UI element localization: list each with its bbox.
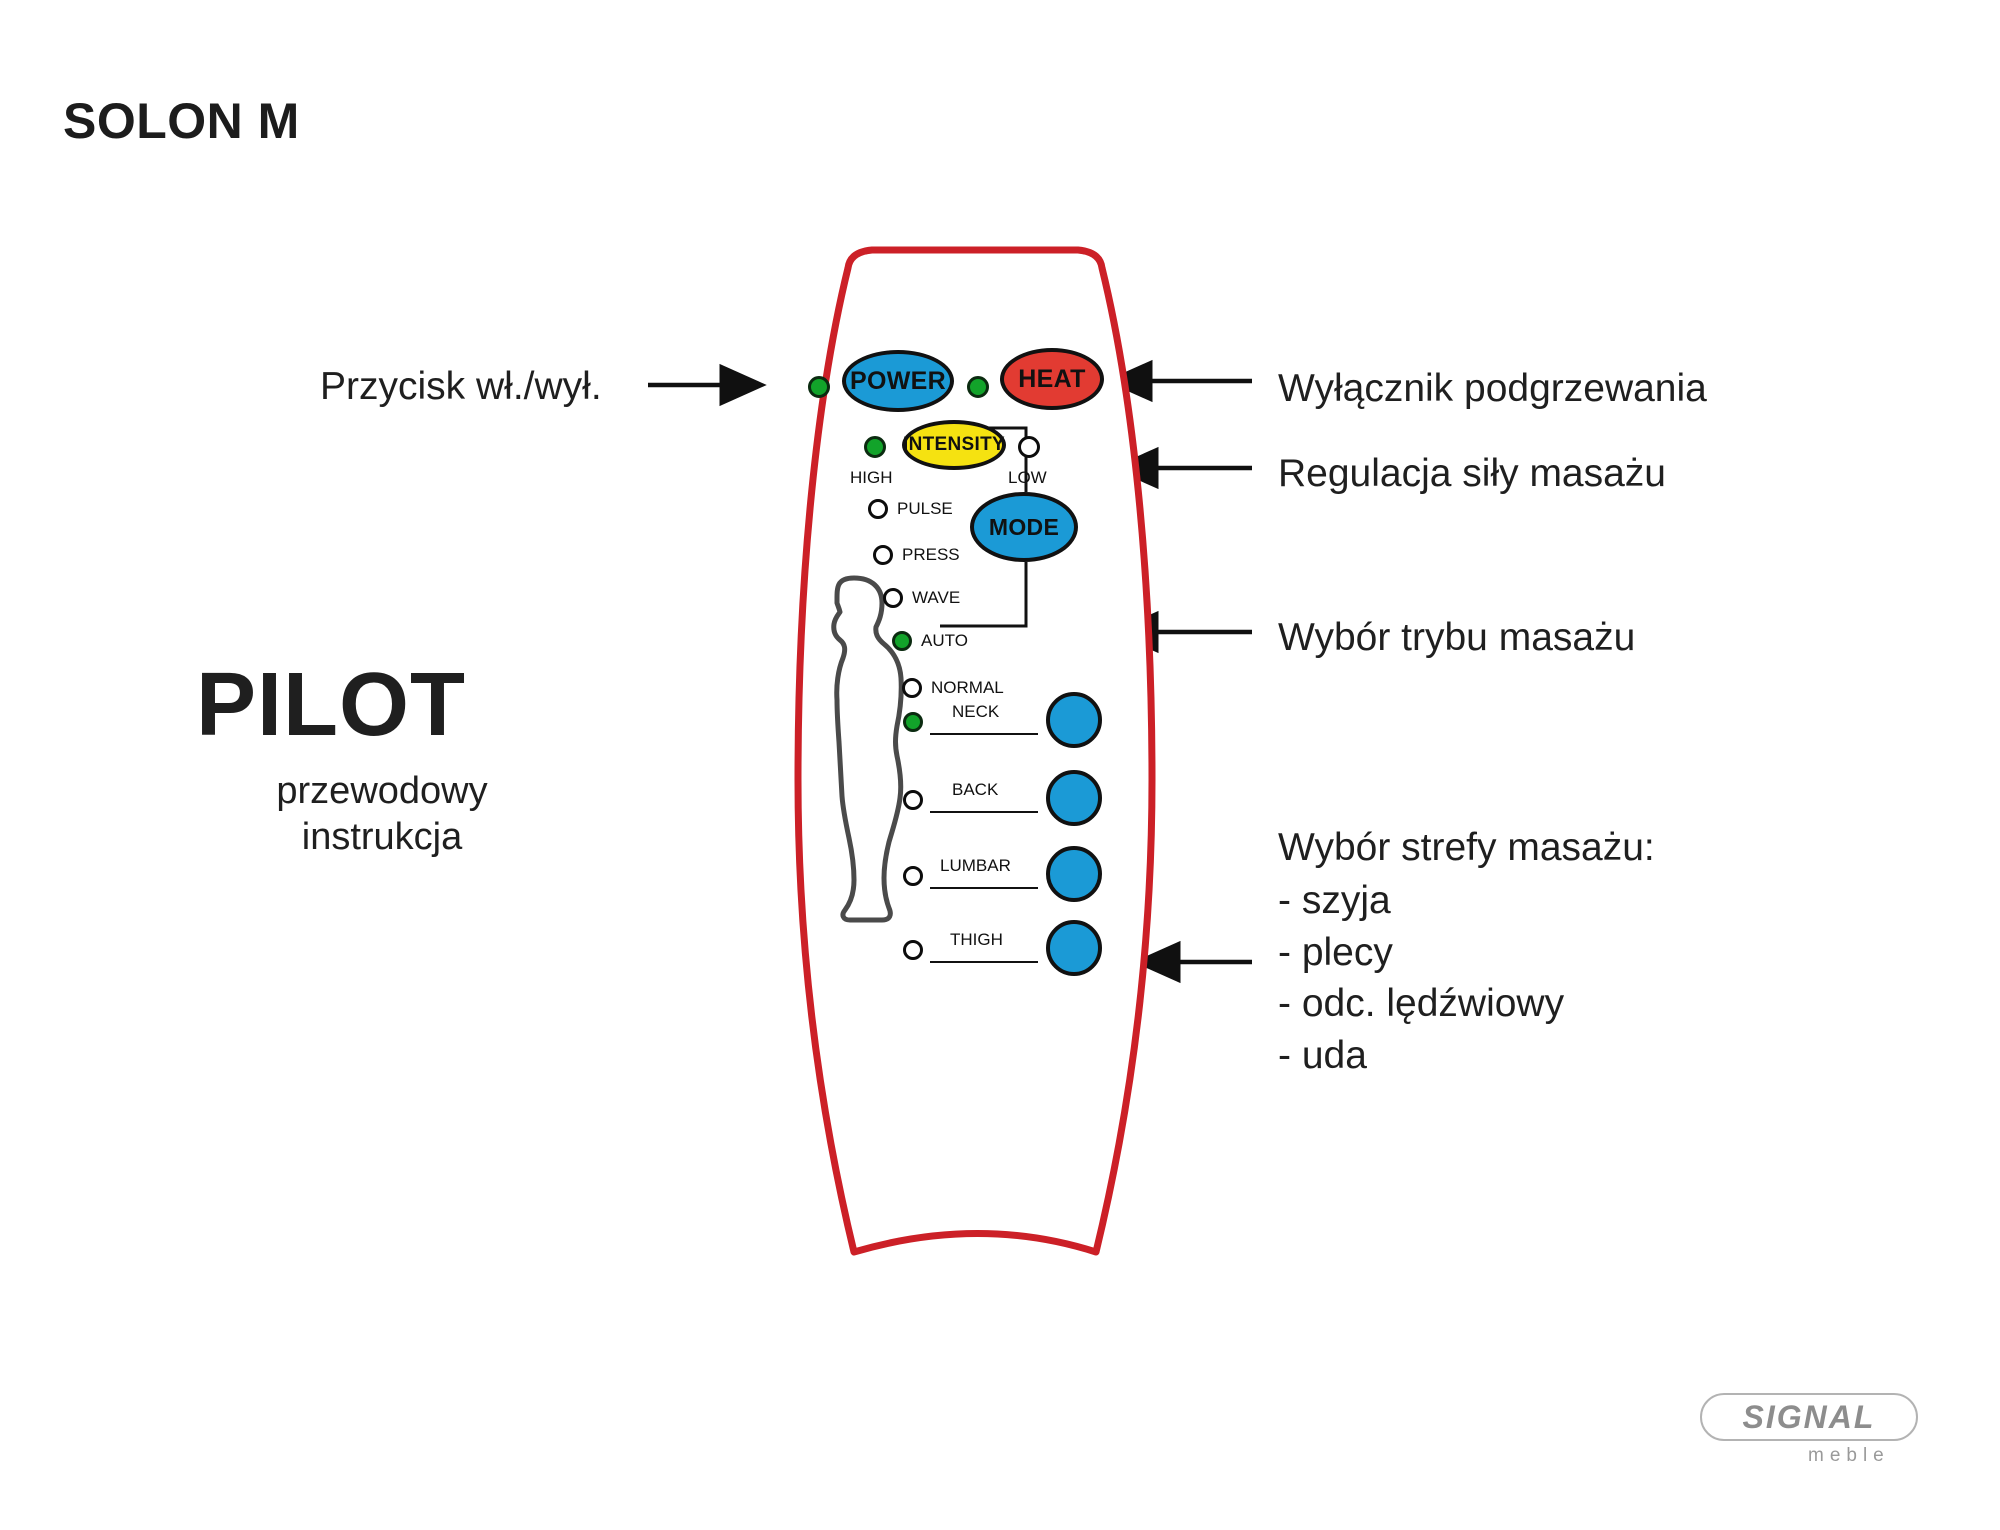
zone-button-back[interactable] bbox=[1046, 770, 1102, 826]
signal-meble-logo: SIGNAL meble bbox=[1700, 1393, 1940, 1485]
zone-underline-lumbar bbox=[930, 887, 1038, 889]
zone-button-neck[interactable] bbox=[1046, 692, 1102, 748]
annotation-zone-item: - plecy bbox=[1278, 927, 1655, 978]
zone-led-neck bbox=[903, 712, 923, 732]
intensity-high-led bbox=[864, 436, 886, 458]
annotation-zone-item: - szyja bbox=[1278, 875, 1655, 926]
intensity-low-led bbox=[1018, 436, 1040, 458]
annotation-zone-item: - odc. lędźwiowy bbox=[1278, 978, 1655, 1029]
power-button[interactable]: POWER bbox=[842, 350, 954, 412]
intensity-high-label: HIGH bbox=[850, 468, 893, 488]
zone-underline-neck bbox=[930, 733, 1038, 735]
zone-label-neck: NECK bbox=[952, 702, 999, 722]
annotation-heat: Wyłącznik podgrzewania bbox=[1278, 363, 1707, 414]
pilot-subtitle: przewodowy instrukcja bbox=[222, 768, 542, 861]
mode-led-wave bbox=[883, 588, 903, 608]
logo-wordmark: SIGNAL bbox=[1700, 1393, 1918, 1441]
annotation-zone-item: - uda bbox=[1278, 1030, 1655, 1081]
zone-led-lumbar bbox=[903, 866, 923, 886]
annotation-zone-heading: Wybór strefy masażu: bbox=[1278, 822, 1655, 873]
annotation-zone-list: - szyja - plecy - odc. lędźwiowy - uda bbox=[1278, 875, 1655, 1081]
mode-label-wave: WAVE bbox=[912, 588, 960, 608]
mode-led-pulse bbox=[868, 499, 888, 519]
annotation-power: Przycisk wł./wył. bbox=[320, 365, 602, 409]
zone-underline-thigh bbox=[930, 961, 1038, 963]
mode-button[interactable]: MODE bbox=[970, 492, 1078, 562]
zone-underline-back bbox=[930, 811, 1038, 813]
logo-subtext: meble bbox=[1808, 1445, 1890, 1467]
mode-label-pulse: PULSE bbox=[897, 499, 953, 519]
intensity-low-label: LOW bbox=[1008, 468, 1047, 488]
mode-label-normal: NORMAL bbox=[931, 678, 1004, 698]
zone-label-lumbar: LUMBAR bbox=[940, 856, 1011, 876]
zone-label-thigh: THIGH bbox=[950, 930, 1003, 950]
intensity-button[interactable]: INTENSITY bbox=[902, 420, 1006, 470]
mode-label-press: PRESS bbox=[902, 545, 960, 565]
pilot-subtitle-line1: przewodowy bbox=[222, 768, 542, 814]
mode-label-auto: AUTO bbox=[921, 631, 968, 651]
pilot-subtitle-line2: instrukcja bbox=[222, 814, 542, 860]
zone-label-back: BACK bbox=[952, 780, 998, 800]
power-led bbox=[808, 376, 830, 398]
slide-canvas: SOLON M PILOT przewodowy instrukcja Przy… bbox=[0, 0, 2000, 1530]
annotation-zone: Wybór strefy masażu: - szyja - plecy - o… bbox=[1278, 822, 1655, 1081]
mode-led-press bbox=[873, 545, 893, 565]
mode-bracket-connector bbox=[780, 240, 1170, 1300]
mode-led-auto bbox=[892, 631, 912, 651]
annotation-mode: Wybór trybu masażu bbox=[1278, 612, 1635, 663]
remote-control: POWER HEAT INTENSITY HIGH LOW PULSE PRES… bbox=[780, 240, 1170, 1300]
pilot-heading: PILOT bbox=[196, 660, 466, 750]
annotation-intensity: Regulacja siły masażu bbox=[1278, 448, 1666, 499]
zone-led-thigh bbox=[903, 940, 923, 960]
zone-led-back bbox=[903, 790, 923, 810]
heat-led bbox=[967, 376, 989, 398]
mode-led-normal bbox=[902, 678, 922, 698]
page-title: SOLON M bbox=[63, 92, 300, 150]
zone-button-thigh[interactable] bbox=[1046, 920, 1102, 976]
heat-button[interactable]: HEAT bbox=[1000, 348, 1104, 410]
zone-button-lumbar[interactable] bbox=[1046, 846, 1102, 902]
